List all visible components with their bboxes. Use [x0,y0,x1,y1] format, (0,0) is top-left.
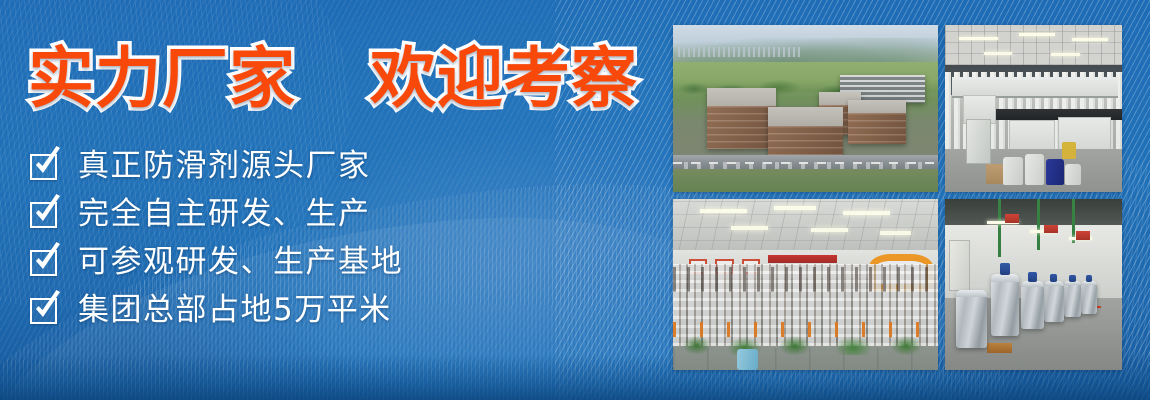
feature-item-1-label: 真正防滑剂源头厂家 [78,149,371,183]
feature-item-2-label: 完全自主研发、生产 [78,197,371,231]
feature-item-3: 可参观研发、生产基地 [30,239,403,285]
feature-item-4: 集团总部占地5万平米 [30,287,403,333]
banner-text-column: 实力厂家 欢迎考察 真正防滑剂源头厂家 [0,0,640,400]
aerial-campus-photo [673,25,938,192]
feature-item-3-label: 可参观研发、生产基地 [78,245,403,279]
office-staff-photo [673,199,938,370]
feature-list: 真正防滑剂源头厂家 完全自主研发、生产 可参观研发、 [30,143,403,333]
headline-part-1: 实力厂家 [28,40,296,117]
feature-item-4-label: 集团总部占地5万平米 [78,293,392,327]
promo-banner: 实力厂家 欢迎考察 真正防滑剂源头厂家 [0,0,1150,400]
checkbox-checked-icon [30,200,61,229]
production-workshop-photo [945,199,1122,370]
checkbox-checked-icon [30,296,61,325]
feature-item-1: 真正防滑剂源头厂家 [30,143,403,189]
headline-part-2: 欢迎考察 [370,40,638,117]
photo-grid [673,25,1122,370]
laboratory-photo [945,25,1122,192]
banner-headline: 实力厂家 欢迎考察 [28,40,628,118]
feature-item-2: 完全自主研发、生产 [30,191,403,237]
checkbox-checked-icon [30,248,61,277]
checkbox-checked-icon [30,152,61,181]
